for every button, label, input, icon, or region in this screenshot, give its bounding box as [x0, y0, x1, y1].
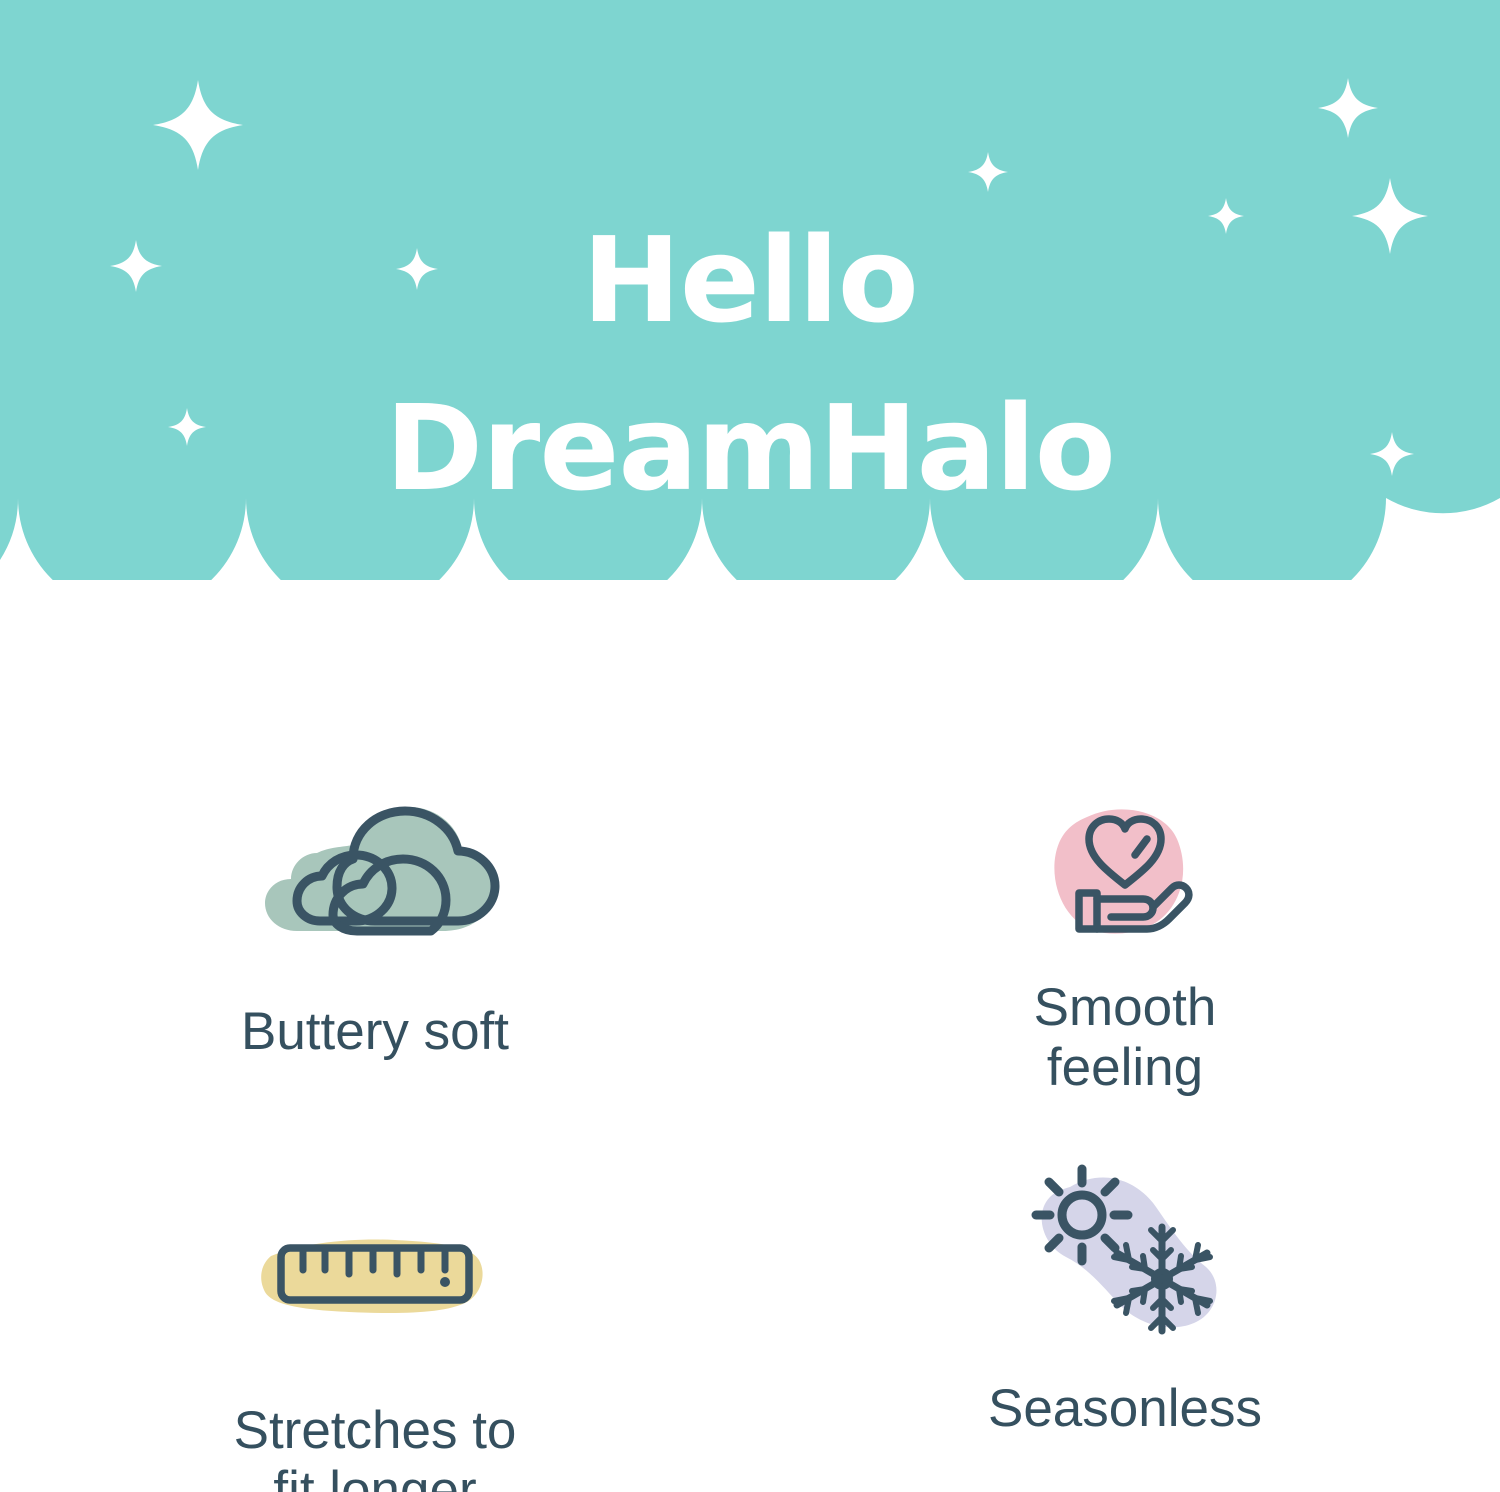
cloud-icon [225, 778, 525, 968]
heart-in-hand-icon [1025, 774, 1225, 964]
sparkle-icon [1318, 78, 1378, 138]
ruler-icon [245, 1187, 505, 1377]
feature-item-smooth-feeling: Smooth feeling [750, 760, 1500, 1099]
feature-item-stretches-to-fit-longer: Stretches to fit longer [0, 1099, 750, 1492]
sun-snowflake-icon [1010, 1151, 1240, 1341]
sparkle-icon [153, 80, 243, 170]
feature-label: Smooth feeling [1034, 978, 1217, 1099]
feature-label: Stretches to fit longer [234, 1401, 517, 1492]
feature-item-buttery-soft: Buttery soft [0, 760, 750, 1099]
feature-label: Seasonless [988, 1379, 1262, 1439]
product-feature-card: Hello DreamHalo Buttery [0, 0, 1500, 1492]
feature-label: Buttery soft [241, 1002, 509, 1062]
feature-item-seasonless: Seasonless [750, 1099, 1500, 1492]
page-title: Hello DreamHalo [0, 197, 1500, 532]
sparkle-icon [968, 152, 1008, 192]
feature-grid: Buttery soft [0, 760, 1500, 1492]
